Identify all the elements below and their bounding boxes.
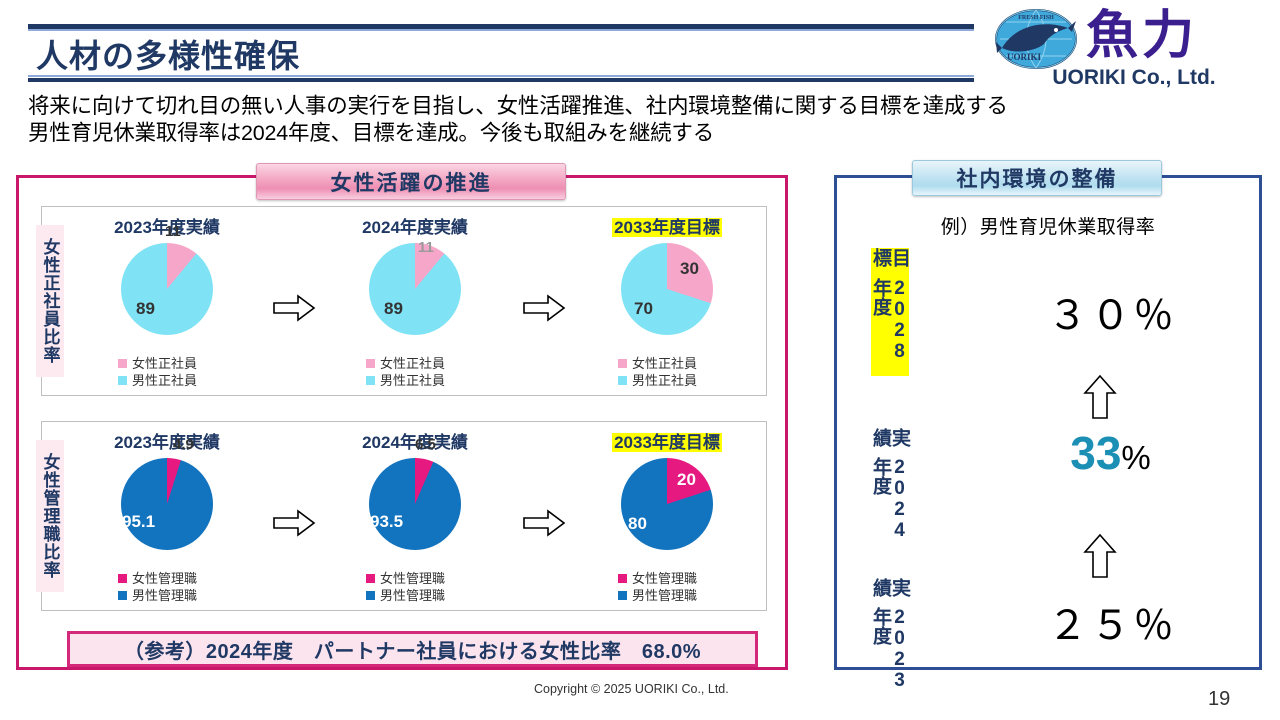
pie-legend-2: 女性正社員 男性正社員 [618,355,697,389]
metric-row-2024: 実績 2024年度 33% [837,428,1259,558]
pie-label-2-female: 30 [680,259,699,279]
pie-label-4-female: 6.5 [415,436,436,453]
metric-label-2023: 実績 2023年度 [871,578,909,700]
lead-line-2: 男性育児休業取得率は2024年度、目標を達成。今後も取組みを継続する [28,120,1258,147]
company-logo: FRESH FISH UORIKI 魚力 UORIKI Co., Ltd. [990,6,1268,90]
metric-year-2023: 2023年度 [871,607,909,700]
right-arrow-icon [272,508,316,538]
chart-row-managers: 女性管理職比率 2023年度実績 4.9 95.1 女性管理職 男性管理職 [41,421,767,611]
legend-item-male: 男性正社員 [366,372,445,389]
legend-swatch-female-icon [118,574,127,583]
lead-paragraph: 将来に向けて切れ目の無い人事の実行を目指し、女性活躍推進、社内環境整備に関する目… [28,93,1258,147]
legend-swatch-male-icon [366,591,375,600]
metric-value-2028: ３０％ [987,283,1237,341]
svg-text:FRESH FISH: FRESH FISH [1018,15,1054,21]
metric-value-2024: 33% [987,426,1237,480]
pie-legend-4: 女性管理職 男性管理職 [366,570,445,604]
uoriki-fish-badge-icon: FRESH FISH UORIKI [994,8,1078,70]
legend-item-female: 女性管理職 [118,570,197,587]
metric-kind-2028: 目標 [871,248,909,278]
metric-label-2028: 目標 2028年度 [871,248,909,376]
legend-swatch-male-icon [618,591,627,600]
right-arrow-icon [522,508,566,538]
legend-item-male: 男性管理職 [618,587,697,604]
legend-item-male: 男性管理職 [118,587,197,604]
women-advancement-panel: 女性正社員比率 2023年度実績 11 89 女性正社員 男性正社員 [16,175,788,670]
pie-legend-3: 女性管理職 男性管理職 [118,570,197,604]
legend-swatch-male-icon [618,376,627,385]
metric-value-2023: ２５％ [987,593,1237,651]
metric-row-2028: 目標 2028年度 ３０％ [837,248,1259,388]
page-number: 19 [1208,688,1230,711]
pie-label-1-male: 89 [384,299,403,319]
pie-title-2: 2033年度目標 [572,213,762,238]
metric-kind-2023: 実績 [871,578,909,607]
legend-item-female: 女性管理職 [366,570,445,587]
metric-row-2023: 実績 2023年度 ２５％ [837,578,1259,708]
pie-chart-0 [121,243,213,335]
legend-item-female: 女性管理職 [618,570,697,587]
pie-cell-5: 2033年度目標 20 80 女性管理職 男性管理職 [572,422,762,610]
pie-cell-0: 2023年度実績 11 89 女性正社員 男性正社員 [72,207,262,395]
pie-label-0-male: 89 [136,299,155,319]
legend-swatch-female-icon [118,359,127,368]
pie-label-5-female: 20 [677,470,696,490]
legend-swatch-male-icon [118,591,127,600]
right-arrow-icon [272,293,316,323]
legend-swatch-female-icon [366,359,375,368]
page-title: 人材の多様性確保 [36,31,300,77]
right-arrow-icon [522,293,566,323]
pie-title-1: 2024年度実績 [320,213,510,238]
pie-cell-2: 2033年度目標 30 70 女性正社員 男性正社員 [572,207,762,395]
row-label-managers: 女性管理職比率 [36,440,64,592]
legend-swatch-male-icon [366,376,375,385]
pie-chart-3 [121,458,213,550]
logo-company-name: UORIKI Co., Ltd. [1000,66,1268,90]
title-rule-top [28,24,974,29]
up-arrow-icon [1083,533,1117,579]
legend-swatch-female-icon [618,574,627,583]
left-panel-tab: 女性活躍の推進 [256,163,566,200]
pie-label-3-female: 4.9 [173,436,194,453]
lead-line-1: 将来に向けて切れ目の無い人事の実行を目指し、女性活躍推進、社内環境整備に関する目… [28,93,1258,120]
workplace-environment-panel: 例）男性育児休業取得率 目標 2028年度 ３０％ 実績 2024年度 33% [834,175,1262,670]
metric-year-2024: 2024年度 [871,457,909,550]
pie-chart-4 [369,458,461,550]
pie-label-5-male: 80 [628,514,647,534]
legend-item-male: 男性正社員 [618,372,697,389]
pie-label-1-female: 11 [418,239,434,256]
pie-legend-5: 女性管理職 男性管理職 [618,570,697,604]
pie-chart-1 [369,243,461,335]
legend-item-male: 男性正社員 [118,372,197,389]
copyright-text: Copyright © 2025 UORIKI Co., Ltd. [534,682,729,696]
svg-text:UORIKI: UORIKI [1007,52,1042,62]
legend-swatch-male-icon [118,376,127,385]
pie-chart-2 [621,243,713,335]
right-panel-tab: 社内環境の整備 [912,160,1162,196]
partner-female-ratio-note: （参考）2024年度 パートナー社員における女性比率 68.0% [67,631,758,667]
pie-chart-5 [621,458,713,550]
logo-kanji: 魚力 [1086,8,1198,64]
pie-cell-1: 2024年度実績 11 89 女性正社員 男性正社員 [320,207,510,395]
right-panel-subtitle: 例）男性育児休業取得率 [837,212,1259,239]
pie-label-2-male: 70 [634,299,653,319]
pie-legend-1: 女性正社員 男性正社員 [366,355,445,389]
slide-root: 人材の多様性確保 FRESH FISH UORIKI 魚力 UORIKI Co.… [0,0,1280,720]
legend-swatch-female-icon [618,359,627,368]
pie-label-4-male: 93.5 [370,512,403,532]
pie-title-3: 2023年度実績 [72,428,262,453]
pie-legend-0: 女性正社員 男性正社員 [118,355,197,389]
metric-year-2028: 2028年度 [871,278,909,376]
pie-title-5: 2033年度目標 [572,428,762,453]
metric-kind-2024: 実績 [871,428,909,457]
legend-item-male: 男性管理職 [366,587,445,604]
chart-row-regular-employees: 女性正社員比率 2023年度実績 11 89 女性正社員 男性正社員 [41,206,767,396]
metric-label-2024: 実績 2024年度 [871,428,909,550]
pie-label-0-female: 11 [165,223,181,240]
legend-item-female: 女性正社員 [118,355,197,372]
legend-swatch-female-icon [366,574,375,583]
title-rule-bottom [28,78,974,82]
pie-cell-3: 2023年度実績 4.9 95.1 女性管理職 男性管理職 [72,422,262,610]
pie-cell-4: 2024年度実績 6.5 93.5 女性管理職 男性管理職 [320,422,510,610]
up-arrow-icon [1083,374,1117,420]
pie-label-3-male: 95.1 [122,512,155,532]
row-label-regular-employees: 女性正社員比率 [36,225,64,377]
legend-item-female: 女性正社員 [366,355,445,372]
legend-item-female: 女性正社員 [618,355,697,372]
